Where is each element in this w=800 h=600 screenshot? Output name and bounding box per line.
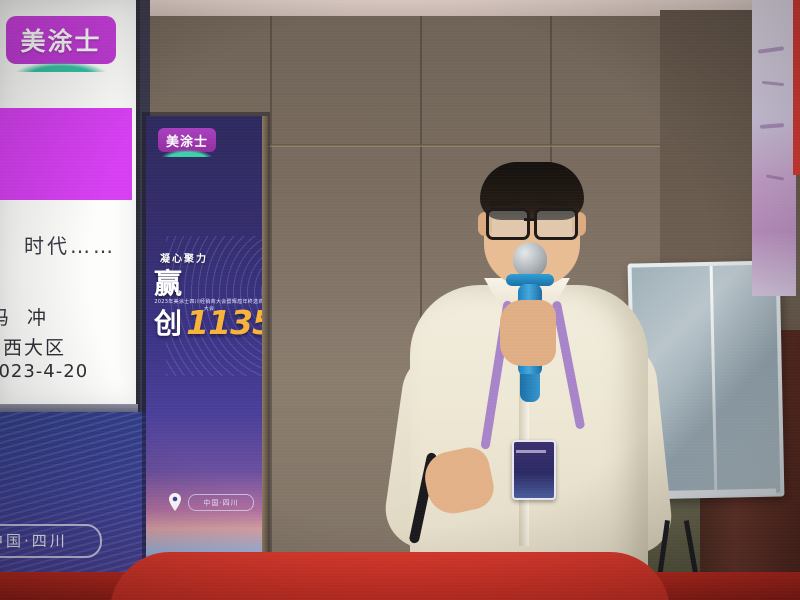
right-wall-board	[752, 0, 796, 296]
photo-scene: 美涂士 时代…… 冯 冲 华西大区 2023-4-20 中国·四川 美涂士 凝心…	[0, 0, 800, 600]
slide-logo-badge: 美涂士	[6, 16, 116, 64]
right-board-red-stripe	[793, 0, 800, 175]
name-badge-text-line	[516, 450, 546, 453]
slide-magenta-band	[0, 108, 132, 200]
banner-subline: 2023年美涂士四川经销商大会暨辉煌年终选商大会	[154, 298, 264, 312]
projection-screen: 美涂士 时代…… 冯 冲 华西大区 2023-4-20	[0, 0, 136, 408]
banner-right-edge	[262, 116, 268, 596]
backdrop-location-label: 中国·四川	[0, 530, 98, 551]
slide-presenter-name: 冯 冲	[0, 303, 110, 330]
eyeglasses-bridge	[524, 218, 536, 221]
slide-logo-wave	[8, 60, 114, 72]
slide-presenter-region: 华西大区	[0, 333, 112, 360]
slide-date: 2023-4-20	[0, 361, 126, 382]
board-scribble	[766, 174, 784, 180]
wall-seam	[270, 16, 272, 600]
banner-logo-wave	[159, 149, 215, 157]
eyeglasses-lens-right	[534, 208, 578, 240]
eyeglasses-lens-left	[486, 208, 530, 240]
rollup-banner: 美涂士 凝心聚力 赢创 1135 2023年美涂士四川经销商大会暨辉煌年终选商大…	[146, 116, 266, 596]
banner-location-pill: 中国·四川	[188, 494, 254, 511]
slide-logo-text: 美涂士	[20, 22, 101, 58]
location-pin-icon	[168, 493, 182, 511]
banner-location-label: 中国·四川	[203, 498, 238, 508]
speaker	[388, 150, 668, 600]
speaker-hand-holding-mic	[500, 300, 556, 366]
microphone-tip	[520, 374, 540, 402]
red-carpet	[110, 552, 670, 600]
board-scribble	[760, 123, 784, 129]
microphone-head	[513, 242, 547, 278]
board-scribble	[758, 46, 784, 54]
slide-brand-logo: 美涂士	[6, 16, 126, 82]
slide-title: 时代……	[6, 230, 134, 259]
name-badge	[512, 440, 556, 500]
board-scribble	[762, 81, 784, 86]
banner-logo-text: 美涂士	[166, 131, 208, 150]
